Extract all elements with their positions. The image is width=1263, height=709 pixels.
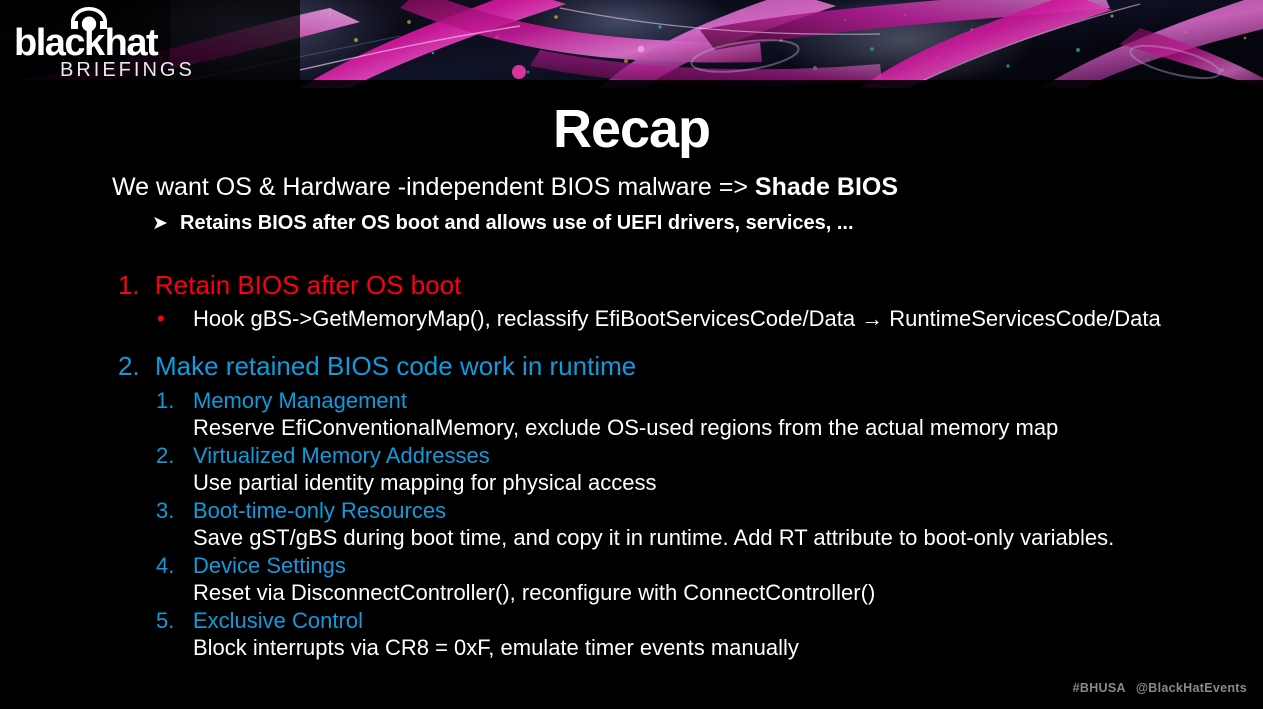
sub-item-4-heading: 4. Device Settings	[154, 552, 1254, 579]
section-2-number: 2.	[114, 350, 155, 382]
intro-emphasis: Shade BIOS	[755, 173, 898, 201]
sub-item-5-label: Exclusive Control	[193, 607, 363, 634]
list-item: 2. Virtualized Memory Addresses Use part…	[154, 442, 1254, 497]
logo-wordmark: blackhat	[14, 24, 204, 62]
black-hat-logo: blackhat BRIEFINGS	[14, 4, 204, 86]
footer-credits: #BHUSA@BlackHatEvents	[1073, 681, 1247, 695]
sub-item-1-number: 1.	[154, 387, 193, 414]
section-1-bullet: • Hook gBS->GetMemoryMap(), reclassify E…	[154, 305, 1161, 333]
sub-item-5-number: 5.	[154, 607, 193, 634]
sub-item-1-description: Reserve EfiConventionalMemory, exclude O…	[193, 414, 1254, 442]
logo-subtitle: BRIEFINGS	[60, 60, 195, 80]
sub-item-3-number: 3.	[154, 497, 193, 524]
arrow-bullet-text: Retains BIOS after OS boot and allows us…	[180, 212, 854, 234]
sub-item-3-description: Save gST/gBS during boot time, and copy …	[193, 524, 1254, 552]
logo-word-hat: hat	[105, 22, 158, 64]
sub-item-1-heading: 1. Memory Management	[154, 387, 1254, 414]
section-1-bullet-text: Hook gBS->GetMemoryMap(), reclassify Efi…	[193, 305, 1161, 333]
slide-title: Recap	[0, 102, 1263, 156]
arrow-bullet-row: ➤Retains BIOS after OS boot and allows u…	[152, 210, 1263, 237]
sub-item-3-label: Boot-time-only Resources	[193, 497, 446, 524]
section-1-number: 1.	[114, 269, 155, 301]
sub-item-4-label: Device Settings	[193, 552, 346, 579]
arrow-bullet-icon: ➤	[152, 211, 180, 237]
slide-body: We want OS & Hardware -independent BIOS …	[0, 172, 1263, 237]
sub-item-2-label: Virtualized Memory Addresses	[193, 442, 490, 469]
list-item: 1. Memory Management Reserve EfiConventi…	[154, 387, 1254, 442]
sub-item-1-label: Memory Management	[193, 387, 407, 414]
sub-item-5-heading: 5. Exclusive Control	[154, 607, 1254, 634]
sub-item-4-number: 4.	[154, 552, 193, 579]
section-1-label: Retain BIOS after OS boot	[155, 269, 461, 301]
list-item: 3. Boot-time-only Resources Save gST/gBS…	[154, 497, 1254, 552]
sub-item-2-number: 2.	[154, 442, 193, 469]
section-2-label: Make retained BIOS code work in runtime	[155, 350, 636, 382]
section-1-heading: 1. Retain BIOS after OS boot	[114, 269, 461, 301]
section-2-heading: 2. Make retained BIOS code work in runti…	[114, 350, 636, 382]
sub-item-5-description: Block interrupts via CR8 = 0xF, emulate …	[193, 634, 1254, 662]
sub-item-2-heading: 2. Virtualized Memory Addresses	[154, 442, 1254, 469]
dot-bullet-icon: •	[154, 305, 193, 333]
list-item: 5. Exclusive Control Block interrupts vi…	[154, 607, 1254, 662]
footer-hashtag: #BHUSA	[1073, 681, 1126, 695]
section-2-sub-list: 1. Memory Management Reserve EfiConventi…	[154, 387, 1254, 662]
intro-line: We want OS & Hardware -independent BIOS …	[112, 172, 1263, 202]
intro-text: We want OS & Hardware -independent BIOS …	[112, 173, 755, 201]
sub-item-3-heading: 3. Boot-time-only Resources	[154, 497, 1254, 524]
sub-item-4-description: Reset via DisconnectController(), reconf…	[193, 579, 1254, 607]
sub-item-2-description: Use partial identity mapping for physica…	[193, 469, 1254, 497]
footer-handle: @BlackHatEvents	[1136, 681, 1247, 695]
logo-word-black: black	[14, 22, 104, 64]
list-item: 4. Device Settings Reset via DisconnectC…	[154, 552, 1254, 607]
